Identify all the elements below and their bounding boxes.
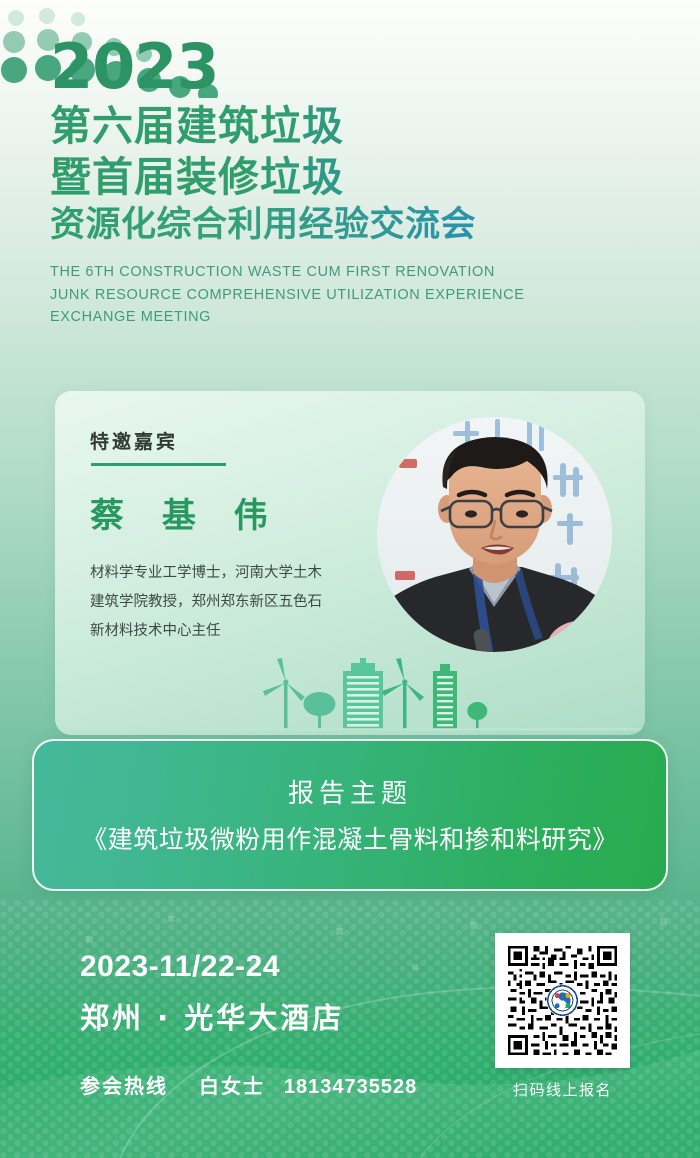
tree-icon-2: [467, 702, 487, 729]
event-date: 2023-11/22-24: [80, 950, 280, 984]
qr-code-image: [502, 940, 623, 1061]
guest-bio-line-3: 新材料技术中心主任: [90, 617, 368, 646]
report-theme-box: 报告主题 《建筑垃圾微粉用作混凝土骨料和掺和料研究》: [32, 739, 668, 891]
poster-header: 2023 第六届建筑垃圾 暨首届装修垃圾 资源化综合利用经验交流会 THE 6T…: [0, 0, 700, 329]
event-venue: 郑州 · 光华大酒店: [80, 995, 344, 1037]
building-icon-2: [433, 664, 457, 729]
event-year: 2023: [50, 38, 700, 97]
title-line-1: 第六届建筑垃圾: [50, 101, 700, 152]
event-poster: 2023 第六届建筑垃圾 暨首届装修垃圾 资源化综合利用经验交流会 THE 6T…: [0, 0, 700, 1158]
report-theme-title: 《建筑垃圾微粉用作混凝土骨料和掺和料研究》: [82, 820, 618, 856]
contact-name: 白女士: [199, 1074, 265, 1098]
wind-turbine-icon: [263, 658, 305, 729]
poster-footer: 2023-11/22-24 郑州 · 光华大酒店 参会热线 白女士 181347…: [0, 900, 700, 1158]
contact-hotline: 参会热线 白女士 18134735528: [80, 1070, 417, 1099]
tree-icon: [304, 692, 336, 729]
qr-caption: 扫码线上报名: [495, 1079, 630, 1100]
guest-bio-line-1: 材料学专业工学博士，河南大学土木: [90, 559, 368, 588]
building-icon: [343, 658, 383, 729]
report-theme-label: 报告主题: [288, 775, 412, 814]
guest-tag-label: 特邀嘉宾: [90, 427, 390, 454]
english-subtitle-line-1: THE 6TH CONSTRUCTION WASTE CUM FIRST REN…: [50, 261, 700, 283]
cityscape-illustration: [55, 657, 645, 735]
guest-portrait: [377, 417, 612, 652]
contact-phone[interactable]: 18134735528: [284, 1076, 417, 1098]
guest-card: 特邀嘉宾 蔡 基 伟 材料学专业工学博士，河南大学土木 建筑学院教授，郑州郑东新…: [55, 391, 645, 735]
guest-portrait-image: [377, 417, 612, 652]
guest-bio: 材料学专业工学博士，河南大学土木 建筑学院教授，郑州郑东新区五色石 新材料技术中…: [90, 559, 368, 646]
guest-bio-line-2: 建筑学院教授，郑州郑东新区五色石: [90, 588, 368, 617]
wind-turbine-icon-2: [382, 658, 424, 729]
qr-registration[interactable]: 扫码线上报名: [495, 933, 630, 1100]
title-line-3: 资源化综合利用经验交流会: [50, 203, 700, 247]
guest-info: 特邀嘉宾 蔡 基 伟 材料学专业工学博士，河南大学土木 建筑学院教授，郑州郑东新…: [90, 427, 390, 646]
title-line-2: 暨首届装修垃圾: [50, 152, 700, 203]
english-subtitle-line-2: JUNK RESOURCE COMPREHENSIVE UTILIZATION …: [50, 284, 700, 306]
guest-name: 蔡 基 伟: [90, 488, 390, 537]
hotline-label: 参会热线: [80, 1074, 168, 1098]
english-subtitle-line-3: EXCHANGE MEETING: [50, 306, 700, 328]
english-subtitle: THE 6TH CONSTRUCTION WASTE CUM FIRST REN…: [50, 261, 700, 328]
guest-tag-underline: [91, 463, 226, 466]
qr-code[interactable]: [495, 933, 630, 1068]
